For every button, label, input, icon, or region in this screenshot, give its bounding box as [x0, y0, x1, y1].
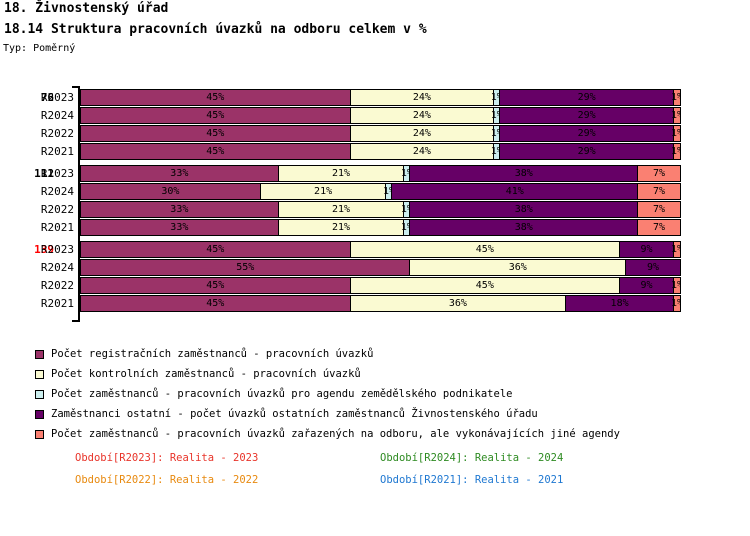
period-label: Období[R2022]: Realita - 2022	[75, 474, 258, 486]
bar-segment[interactable]: 21%	[279, 166, 405, 181]
chart-row: R202245%24%1%29%1%	[0, 125, 750, 143]
bar-segment[interactable]: 38%	[410, 220, 638, 235]
bar-segment[interactable]: 7%	[638, 184, 680, 199]
bar-segment-value: 21%	[332, 223, 350, 233]
bar-segment[interactable]: 9%	[620, 242, 674, 257]
chart-plot-area: 76R202345%24%1%29%1%R202445%24%1%29%1%R2…	[0, 86, 750, 326]
row-period-label: R2023	[0, 243, 74, 256]
stacked-bar[interactable]: 33%21%1%38%7%	[80, 219, 681, 236]
chart-title: 18.14 Struktura pracovních úvazků na odb…	[4, 22, 427, 37]
stacked-bar[interactable]: 45%24%1%29%1%	[80, 107, 681, 124]
bar-segment-value: 45%	[206, 147, 224, 157]
legend-label: Počet registračních zaměstnanců - pracov…	[51, 348, 373, 360]
stacked-bar[interactable]: 45%24%1%29%1%	[80, 143, 681, 160]
bar-segment-value: 45%	[206, 245, 224, 255]
row-period-label: R2022	[0, 203, 74, 216]
row-period-label: R2021	[0, 145, 74, 158]
legend-item[interactable]: Zaměstnanci ostatní - počet úvazků ostat…	[35, 404, 735, 424]
bar-segment[interactable]: 45%	[351, 242, 621, 257]
chart-row: R202133%21%1%38%7%	[0, 219, 750, 237]
bar-segment[interactable]: 21%	[279, 202, 405, 217]
row-period-label: R2024	[0, 185, 74, 198]
chart-row: R202145%36%18%1%	[0, 295, 750, 313]
bar-segment[interactable]: 1%	[674, 90, 680, 105]
chart-row: R202445%24%1%29%1%	[0, 107, 750, 125]
bar-segment[interactable]: 18%	[566, 296, 674, 311]
legend-item[interactable]: Počet kontrolních zaměstnanců - pracovní…	[35, 364, 735, 384]
stacked-bar[interactable]: 30%21%1%41%7%	[80, 183, 681, 200]
bar-segment[interactable]: 24%	[351, 108, 495, 123]
stacked-bar[interactable]: 55%36%9%	[80, 259, 681, 276]
chart-row: R202245%45%9%1%	[0, 277, 750, 295]
bar-segment[interactable]: 21%	[261, 184, 387, 199]
bar-segment[interactable]: 1%	[674, 278, 680, 293]
bar-segment[interactable]: 45%	[81, 90, 351, 105]
bar-segment-value: 45%	[476, 281, 494, 291]
bar-segment-value: 9%	[641, 281, 653, 291]
bar-segment-value: 38%	[515, 205, 533, 215]
bar-segment[interactable]: 1%	[674, 108, 680, 123]
bar-segment-value: 38%	[515, 223, 533, 233]
legend-label: Počet kontrolních zaměstnanců - pracovní…	[51, 368, 361, 380]
legend-color-swatch	[35, 390, 44, 399]
bar-segment-value: 24%	[413, 129, 431, 139]
bar-segment-value: 45%	[206, 299, 224, 309]
bar-segment[interactable]: 45%	[81, 278, 351, 293]
bar-segment-value: 45%	[206, 111, 224, 121]
row-period-label: R2023	[0, 167, 74, 180]
stacked-bar[interactable]: 45%45%9%1%	[80, 241, 681, 258]
bar-segment-value: 18%	[611, 299, 629, 309]
stacked-bar[interactable]: 45%24%1%29%1%	[80, 89, 681, 106]
bar-segment[interactable]: 33%	[81, 202, 279, 217]
stacked-bar[interactable]: 45%24%1%29%1%	[80, 125, 681, 142]
bar-segment-value: 7%	[653, 169, 665, 179]
chart-row: R202430%21%1%41%7%	[0, 183, 750, 201]
bar-segment[interactable]: 9%	[620, 278, 674, 293]
bar-segment-value: 30%	[161, 187, 179, 197]
bar-segment[interactable]: 24%	[351, 90, 495, 105]
bar-segment-value: 21%	[314, 187, 332, 197]
legend-label: Počet zaměstnanců - pracovních úvazků pr…	[51, 388, 512, 400]
bar-segment-value: 45%	[476, 245, 494, 255]
row-period-label: R2022	[0, 127, 74, 140]
bar-segment[interactable]: 1%	[674, 144, 680, 159]
chart-group: 76R202345%24%1%29%1%R202445%24%1%29%1%R2…	[0, 89, 750, 161]
bar-segment[interactable]: 36%	[351, 296, 567, 311]
chart-row: R202345%24%1%29%1%	[0, 89, 750, 107]
axis-tick-top	[72, 86, 80, 88]
bar-segment-value: 9%	[641, 245, 653, 255]
bar-segment[interactable]: 29%	[500, 108, 674, 123]
bar-segment[interactable]: 45%	[81, 126, 351, 141]
bar-segment-value: 38%	[515, 169, 533, 179]
bar-segment[interactable]: 36%	[410, 260, 626, 275]
row-period-label: R2022	[0, 279, 74, 292]
bar-segment-value: 24%	[413, 111, 431, 121]
row-period-label: R2021	[0, 297, 74, 310]
bar-segment[interactable]: 55%	[81, 260, 410, 275]
bar-segment-value: 55%	[236, 263, 254, 273]
bar-segment-value: 29%	[578, 129, 596, 139]
chart-row: R202455%36%9%	[0, 259, 750, 277]
chart-type-label: Typ: Poměrný	[3, 43, 75, 54]
period-row: Období[R2023]: Realita - 2023Období[R202…	[75, 452, 735, 474]
period-label: Období[R2024]: Realita - 2024	[380, 452, 563, 464]
row-period-label: R2023	[0, 91, 74, 104]
chart-group: 111R202333%21%1%38%7%R202430%21%1%41%7%R…	[0, 165, 750, 237]
bar-segment-value: 45%	[206, 129, 224, 139]
bar-segment[interactable]: 29%	[500, 90, 674, 105]
period-label: Období[R2023]: Realita - 2023	[75, 452, 258, 464]
legend-color-swatch	[35, 370, 44, 379]
row-period-label: R2024	[0, 109, 74, 122]
bar-segment[interactable]: 24%	[351, 144, 495, 159]
chart-row: R202333%21%1%38%7%	[0, 165, 750, 183]
chart-row: R202145%24%1%29%1%	[0, 143, 750, 161]
bar-segment-value: 29%	[578, 93, 596, 103]
axis-tick-bottom	[72, 320, 80, 322]
bar-segment-value: 33%	[170, 223, 188, 233]
bar-segment[interactable]: 21%	[279, 220, 405, 235]
period-legend: Období[R2023]: Realita - 2023Období[R202…	[75, 452, 735, 496]
stacked-bar[interactable]: 33%21%1%38%7%	[80, 165, 681, 182]
period-label: Období[R2021]: Realita - 2021	[380, 474, 563, 486]
bar-segment[interactable]: 7%	[638, 202, 680, 217]
bar-segment-value: 33%	[170, 205, 188, 215]
bar-segment[interactable]: 38%	[410, 166, 638, 181]
bar-segment[interactable]: 30%	[81, 184, 261, 199]
bar-segment[interactable]: 1%	[674, 242, 680, 257]
bar-segment-value: 21%	[332, 169, 350, 179]
legend-item[interactable]: Počet registračních zaměstnanců - pracov…	[35, 344, 735, 364]
bar-segment-value: 21%	[332, 205, 350, 215]
bar-segment[interactable]: 41%	[392, 184, 638, 199]
chart-legend: Počet registračních zaměstnanců - pracov…	[35, 344, 735, 444]
row-period-label: R2021	[0, 221, 74, 234]
chart-group: 139R202345%45%9%1%R202455%36%9%R202245%4…	[0, 241, 750, 313]
bar-segment-value: 45%	[206, 93, 224, 103]
bar-segment[interactable]: 1%	[674, 126, 680, 141]
bar-segment[interactable]: 45%	[81, 296, 351, 311]
report-title: 18. Živnostenský úřad	[4, 1, 168, 16]
bar-segment[interactable]: 1%	[674, 296, 680, 311]
chart-row: R202345%45%9%1%	[0, 241, 750, 259]
bar-segment[interactable]: 29%	[500, 144, 674, 159]
legend-color-swatch	[35, 410, 44, 419]
bar-segment[interactable]: 45%	[81, 108, 351, 123]
bar-segment-value: 33%	[170, 169, 188, 179]
bar-segment-value: 24%	[413, 93, 431, 103]
stacked-bar[interactable]: 33%21%1%38%7%	[80, 201, 681, 218]
chart-row: R202233%21%1%38%7%	[0, 201, 750, 219]
bar-segment[interactable]: 7%	[638, 220, 680, 235]
legend-label: Zaměstnanci ostatní - počet úvazků ostat…	[51, 408, 538, 420]
legend-item[interactable]: Počet zaměstnanců - pracovních úvazků za…	[35, 424, 735, 444]
bar-segment-value: 45%	[206, 281, 224, 291]
bar-segment-value: 41%	[506, 187, 524, 197]
bar-segment-value: 9%	[647, 263, 659, 273]
bar-segment[interactable]: 33%	[81, 220, 279, 235]
bar-segment-value: 7%	[653, 205, 665, 215]
legend-item[interactable]: Počet zaměstnanců - pracovních úvazků pr…	[35, 384, 735, 404]
stacked-bar[interactable]: 45%36%18%1%	[80, 295, 681, 312]
bar-segment[interactable]: 9%	[626, 260, 680, 275]
bar-segment[interactable]: 45%	[81, 144, 351, 159]
bar-segment-value: 36%	[509, 263, 527, 273]
bar-segment[interactable]: 29%	[500, 126, 674, 141]
bar-segment[interactable]: 45%	[351, 278, 621, 293]
bar-segment-value: 29%	[578, 111, 596, 121]
legend-color-swatch	[35, 430, 44, 439]
bar-segment-value: 36%	[449, 299, 467, 309]
bar-segment[interactable]: 33%	[81, 166, 279, 181]
bar-segment-value: 24%	[413, 147, 431, 157]
stacked-bar[interactable]: 45%45%9%1%	[80, 277, 681, 294]
bar-segment-value: 29%	[578, 147, 596, 157]
legend-color-swatch	[35, 350, 44, 359]
bar-segment[interactable]: 45%	[81, 242, 351, 257]
bar-segment-value: 7%	[653, 187, 665, 197]
row-period-label: R2024	[0, 261, 74, 274]
period-row: Období[R2022]: Realita - 2022Období[R202…	[75, 474, 735, 496]
bar-segment[interactable]: 24%	[351, 126, 495, 141]
bar-segment-value: 7%	[653, 223, 665, 233]
bar-segment[interactable]: 7%	[638, 166, 680, 181]
legend-label: Počet zaměstnanců - pracovních úvazků za…	[51, 428, 620, 440]
bar-segment[interactable]: 38%	[410, 202, 638, 217]
